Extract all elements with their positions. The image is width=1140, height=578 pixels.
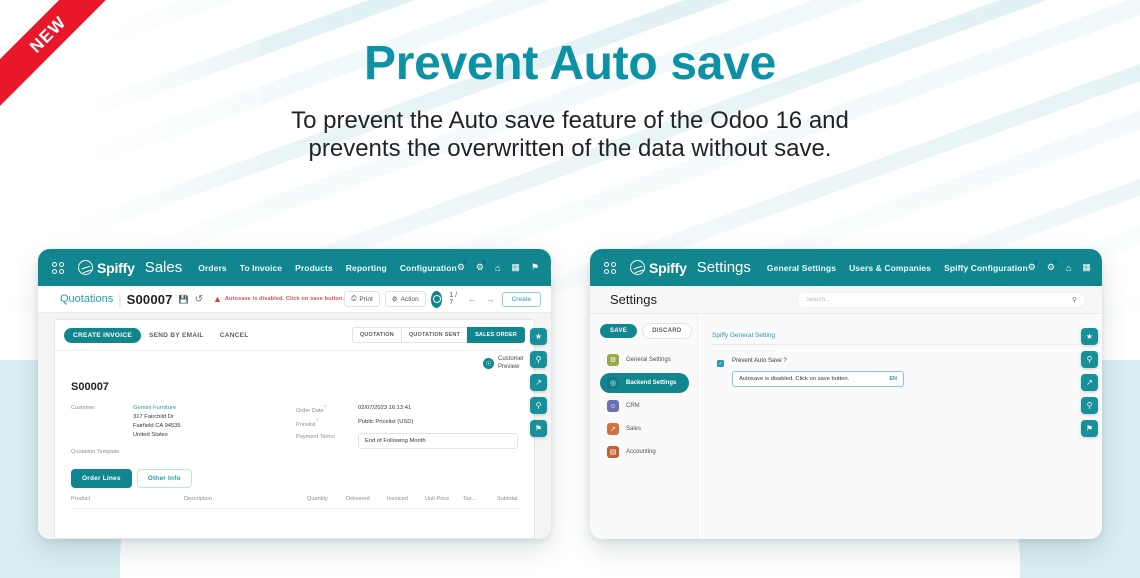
field-order-date-label: Order Date? — [296, 404, 358, 414]
column-delivered: Delivered — [346, 496, 370, 502]
field-customer-value: Gemini Furniture 317 Fairchild Dr Fairfi… — [133, 404, 181, 440]
spiffy-backend-icon: ◎ — [607, 377, 619, 389]
settings-nav-menu: General Settings Users & Companies Spiff… — [767, 263, 1028, 273]
brand-logo[interactable]: Spiffy — [630, 260, 687, 276]
shop-icon[interactable]: ⌂ — [1066, 263, 1071, 273]
customer-link[interactable]: Gemini Furniture — [133, 404, 181, 413]
apps-grid-icon[interactable] — [604, 262, 616, 274]
bookmark-icon[interactable]: ⚑ — [530, 420, 547, 437]
star-icon[interactable]: ★ — [530, 328, 547, 345]
sidebar-item-label: CRM — [626, 403, 640, 409]
nav-item-spiffy-configuration[interactable]: Spiffy Configuration — [944, 263, 1028, 273]
sales-icon: ↗ — [607, 423, 619, 435]
customer-preview-icon: ☉ — [483, 358, 494, 369]
settings-navbar: Spiffy Settings General Settings Users &… — [590, 249, 1102, 286]
activities-icon[interactable]: ⚙ — [1028, 262, 1036, 273]
print-icon: ⎙ — [351, 295, 356, 303]
column-tax: Tax... — [463, 496, 476, 502]
zoom-icon[interactable]: ⚲ — [530, 397, 547, 414]
control-panel-actions: ⎙ Print ⚙ Action 1 / 7 ← → Create — [344, 291, 541, 308]
field-pricelist: Pricelist? Public Pricelist (USD) — [296, 418, 518, 428]
customer-address-line-3: United States — [133, 431, 181, 440]
nav-item-orders[interactable]: Orders — [198, 263, 226, 273]
link-icon[interactable]: ↗ — [530, 374, 547, 391]
breadcrumb-separator: | — [118, 292, 121, 307]
settings-body: SAVE DISCARD ⚙ General Settings ◎ Backen… — [590, 314, 1102, 539]
subtitle-line-1: To prevent the Auto save feature of the … — [0, 107, 1140, 135]
payment-terms-input[interactable] — [358, 433, 518, 449]
app-name: Sales — [145, 259, 183, 276]
search-icon: ⚲ — [1072, 296, 1077, 304]
sales-nav-menu: Orders To Invoice Products Reporting Con… — [198, 263, 457, 273]
settings-navbar-systray: ⚙ ⚙ ⌂ ▦ ⚑ ▭ ☉ — [1028, 259, 1102, 277]
star-icon[interactable]: ★ — [1081, 328, 1098, 345]
settings-search-box[interactable]: ⚲ — [797, 292, 1086, 308]
link-icon[interactable]: ↗ — [1081, 374, 1098, 391]
sidebar-item-label: Sales — [626, 426, 641, 432]
customer-preview-line-1: Customer — [498, 356, 524, 362]
zoom-icon[interactable]: ⚲ — [1081, 397, 1098, 414]
prevent-auto-save-checkbox[interactable]: ✓ — [717, 360, 724, 367]
calendar-icon[interactable]: ▦ — [1082, 262, 1091, 273]
customer-preview-button[interactable]: ☉ Customer Preview — [483, 356, 524, 371]
field-order-date-value[interactable]: 02/07/2023 16:13:41 — [358, 404, 411, 414]
customer-address-line-2: Fairfield CA 94535 — [133, 422, 181, 431]
brand-name: Spiffy — [97, 260, 135, 276]
prevent-auto-save-setting: ✓ Prevent Auto Save ? EN — [712, 358, 1086, 387]
page-subtitle: To prevent the Auto save feature of the … — [0, 107, 1140, 164]
flag-icon[interactable]: ⚑ — [531, 262, 539, 273]
column-description: Description — [184, 496, 212, 502]
action-label: Action — [401, 296, 419, 303]
brand-logo[interactable]: Spiffy — [78, 260, 135, 276]
new-ribbon-label: NEW — [0, 0, 118, 110]
nav-item-general-settings[interactable]: General Settings — [767, 263, 836, 273]
settings-main-content: Spiffy General Setting ✓ Prevent Auto Sa… — [698, 314, 1102, 539]
right-side-toolbar: ★ ⚲ ↗ ⚲ ⚑ — [1081, 328, 1098, 437]
sidebar-item-backend-settings[interactable]: ◎ Backend Settings — [600, 373, 689, 393]
column-product: Product — [71, 496, 90, 502]
new-ribbon: NEW — [0, 0, 118, 118]
language-badge[interactable]: EN — [889, 376, 897, 382]
nav-item-users-companies[interactable]: Users & Companies — [849, 263, 931, 273]
sidebar-item-label: General Settings — [626, 357, 671, 363]
nav-item-reporting[interactable]: Reporting — [346, 263, 387, 273]
page-title: Prevent Auto save — [0, 38, 1140, 91]
field-quotation-template-label: Quotation Template — [71, 448, 119, 455]
warning-triangle-icon: ▲ — [213, 294, 222, 304]
search-chat-icon[interactable]: ⚲ — [530, 351, 547, 368]
page-title: Settings — [610, 292, 657, 307]
stage-quotation-sent[interactable]: QUOTATION SENT — [401, 327, 467, 343]
field-payment-terms: Payment Terms — [296, 433, 518, 449]
nav-item-products[interactable]: Products — [295, 263, 333, 273]
pager-counter: 1 / 7 — [449, 292, 458, 306]
autosave-warning-text: Autosave is disabled. Click on save butt… — [225, 296, 344, 302]
shop-icon[interactable]: ⌂ — [495, 263, 500, 273]
form-right-column: Order Date? 02/07/2023 16:13:41 Pricelis… — [296, 404, 518, 459]
sales-control-panel: Quotations | S00007 💾 ↺ ▲ Autosave is di… — [38, 286, 551, 313]
column-unit-price: Unit Price — [425, 496, 449, 502]
order-date-label-text: Order Date — [296, 408, 324, 414]
field-customer-label: Customer — [71, 404, 133, 440]
sidebar-item-label: Accounting — [626, 449, 656, 455]
settings-sidebar: SAVE DISCARD ⚙ General Settings ◎ Backen… — [590, 314, 698, 539]
field-pricelist-label: Pricelist? — [296, 418, 358, 428]
order-lines-header: Product Description Quantity Delivered I… — [71, 497, 518, 509]
form-left-column: Customer Gemini Furniture 317 Fairchild … — [71, 404, 278, 459]
status-stages: QUOTATION QUOTATION SENT SALES ORDER — [352, 327, 525, 343]
banner-page: NEW Prevent Auto save To prevent the Aut… — [0, 0, 1140, 578]
print-button[interactable]: ⎙ Print — [344, 291, 380, 307]
pager-next-icon[interactable]: → — [484, 294, 497, 304]
create-button[interactable]: Create — [502, 292, 542, 307]
brand-name: Spiffy — [649, 260, 687, 276]
breadcrumb-root[interactable]: Quotations — [60, 293, 113, 305]
search-input[interactable] — [806, 297, 1072, 303]
messages-icon[interactable]: ⚙ — [476, 262, 484, 273]
apps-grid-icon[interactable] — [52, 262, 64, 274]
messages-icon[interactable]: ⚙ — [1047, 262, 1055, 273]
pager-previous-icon[interactable]: ← — [466, 294, 479, 304]
bookmark-icon[interactable]: ⚑ — [1081, 420, 1098, 437]
form-columns: Customer Gemini Furniture 317 Fairchild … — [55, 393, 534, 459]
autosave-message-field[interactable]: EN — [732, 371, 904, 387]
send-by-email-button[interactable]: SEND BY EMAIL — [141, 328, 212, 343]
note-icon[interactable]: ▭ — [550, 262, 551, 273]
calendar-icon[interactable]: ▦ — [511, 262, 520, 273]
autosave-message-input[interactable] — [739, 376, 889, 382]
search-chat-icon[interactable]: ⚲ — [1081, 351, 1098, 368]
field-customer: Customer Gemini Furniture 317 Fairchild … — [71, 404, 278, 440]
sales-navbar: Spiffy Sales Orders To Invoice Products … — [38, 249, 551, 286]
cancel-button[interactable]: CANCEL — [212, 328, 257, 343]
sidebar-item-accounting[interactable]: ▤ Accounting — [600, 442, 689, 462]
tab-other-info[interactable]: Other Info — [137, 469, 192, 488]
prevent-auto-save-label: Prevent Auto Save ? — [732, 358, 1086, 364]
form-notebook-tabs: Order Lines Other Info — [55, 459, 534, 488]
autosave-warning: ▲ Autosave is disabled. Click on save bu… — [213, 294, 344, 304]
app-name: Settings — [697, 259, 751, 276]
sales-sheet-area: CREATE INVOICE SEND BY EMAIL CANCEL QUOT… — [38, 313, 551, 539]
subtitle-line-2: prevents the overwritten of the data wit… — [0, 135, 1140, 163]
headline-block: Prevent Auto save To prevent the Auto sa… — [0, 38, 1140, 163]
customer-preview-label: Customer Preview — [498, 356, 524, 371]
field-quotation-template: Quotation Template — [71, 448, 278, 455]
customer-preview-line-2: Preview — [498, 364, 519, 370]
field-order-date: Order Date? 02/07/2023 16:13:41 — [296, 404, 518, 414]
create-invoice-button[interactable]: CREATE INVOICE — [64, 328, 141, 343]
nav-item-configuration[interactable]: Configuration — [400, 263, 457, 273]
customer-preview-row: ☉ Customer Preview — [55, 351, 534, 371]
settings-app-window: Spiffy Settings General Settings Users &… — [590, 249, 1102, 539]
sales-navbar-systray: ⚙ ⚙ ⌂ ▦ ⚑ ▭ ☉ — [457, 259, 551, 277]
left-side-toolbar: ★ ⚲ ↗ ⚲ ⚑ — [530, 328, 547, 437]
sidebar-item-sales[interactable]: ↗ Sales — [600, 419, 689, 439]
spiffy-logo-icon — [78, 260, 93, 275]
pricelist-label-text: Pricelist — [296, 422, 316, 428]
setting-block: Prevent Auto Save ? EN — [732, 358, 1086, 387]
record-title: S00007 — [55, 371, 534, 393]
print-label: Print — [359, 296, 372, 303]
sales-form-sheet: CREATE INVOICE SEND BY EMAIL CANCEL QUOT… — [54, 319, 535, 539]
sidebar-item-crm[interactable]: ☺ CRM — [600, 396, 689, 416]
gear-settings-icon: ⚙ — [607, 354, 619, 366]
activities-icon[interactable]: ⚙ — [457, 262, 465, 273]
discard-button[interactable]: DISCARD — [642, 323, 691, 339]
column-quantity: Quantity — [307, 496, 328, 502]
field-payment-terms-label: Payment Terms — [296, 433, 358, 440]
sales-statusbar: CREATE INVOICE SEND BY EMAIL CANCEL QUOT… — [55, 320, 534, 351]
settings-topbar: Settings ⚲ — [590, 286, 1102, 314]
save-icon[interactable]: 💾 — [179, 293, 189, 306]
crm-icon: ☺ — [607, 400, 619, 412]
discard-undo-icon[interactable]: ↺ — [195, 293, 203, 306]
nav-item-to-invoice[interactable]: To Invoice — [240, 263, 282, 273]
save-button[interactable]: SAVE — [600, 324, 637, 338]
spiffy-logo-icon — [630, 260, 645, 275]
section-title: Spiffy General Setting — [712, 332, 775, 345]
sidebar-item-general-settings[interactable]: ⚙ General Settings — [600, 350, 689, 370]
settings-action-buttons: SAVE DISCARD — [600, 323, 689, 339]
customer-address-line-1: 317 Fairchild Dr — [133, 413, 181, 422]
column-invoiced: Invoiced — [387, 496, 408, 502]
column-subtotal: Subtotal — [497, 496, 518, 502]
action-button[interactable]: ⚙ Action — [385, 291, 426, 307]
accounting-icon: ▤ — [607, 446, 619, 458]
breadcrumb-current: S00007 — [127, 292, 173, 307]
field-pricelist-value[interactable]: Public Pricelist (USD) — [358, 418, 413, 428]
stage-sales-order[interactable]: SALES ORDER — [467, 327, 525, 343]
sidebar-item-label: Backend Settings — [626, 380, 676, 386]
gear-icon: ⚙ — [392, 295, 398, 303]
loading-spinner-icon[interactable] — [431, 291, 443, 308]
tab-order-lines[interactable]: Order Lines — [71, 469, 132, 488]
sales-app-window: Spiffy Sales Orders To Invoice Products … — [38, 249, 551, 539]
stage-quotation[interactable]: QUOTATION — [352, 327, 401, 343]
